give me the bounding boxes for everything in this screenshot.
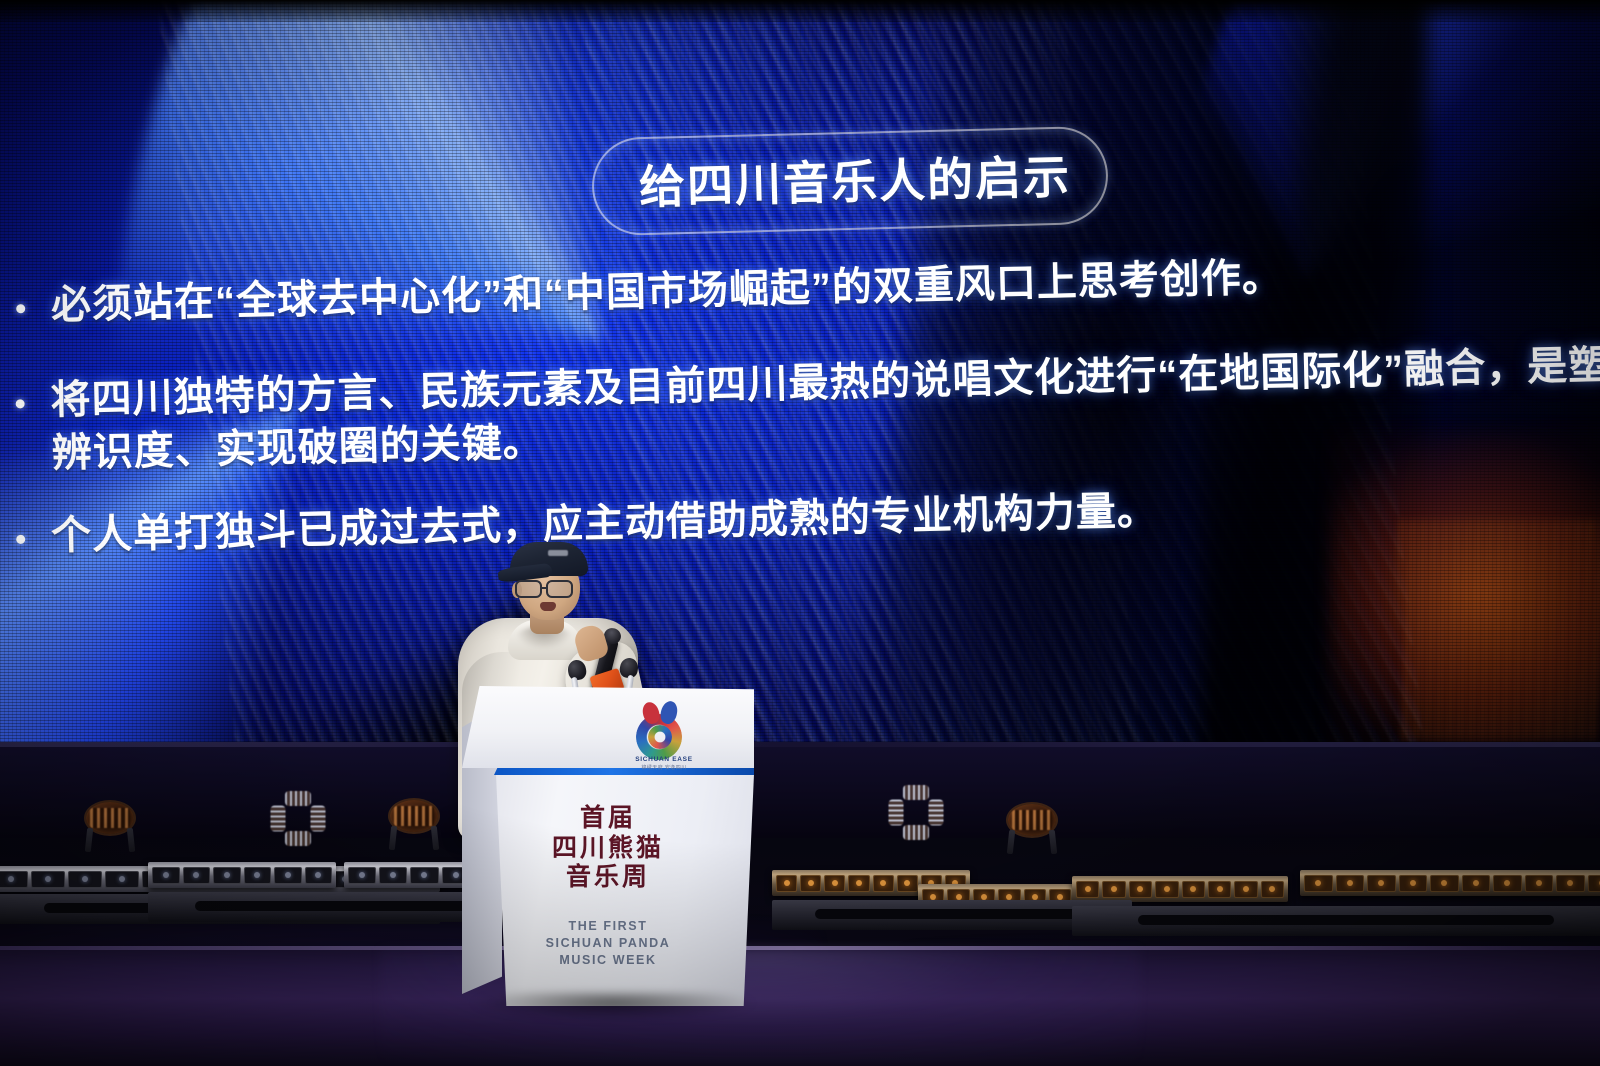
sichuan-ease-logo: SICHUAN EASE 锦绣天府 安逸四川: [628, 698, 700, 762]
led-bar-base: [1072, 906, 1600, 936]
led-cell: [1304, 875, 1333, 892]
podium-subtitle-line: SICHUAN PANDA: [462, 935, 754, 952]
fixture-petal: [311, 806, 326, 832]
fixture-lens: [394, 806, 434, 826]
led-cell: [1261, 881, 1284, 898]
flower-effect-fixture: [880, 776, 952, 848]
led-cell: [183, 867, 211, 884]
bullet-dot-icon: [16, 399, 25, 408]
led-cell: [244, 867, 272, 884]
stage-floor-area: [0, 742, 1600, 1066]
led-cell: [1155, 881, 1178, 898]
fixture-lens: [90, 808, 130, 828]
led-cell: [1556, 875, 1585, 892]
fixture-petal: [285, 791, 311, 806]
led-cell: [1182, 881, 1205, 898]
fixture-petal: [285, 831, 311, 846]
stage-led-bar-amber: [1072, 876, 1288, 902]
led-cell: [1430, 875, 1459, 892]
slide-bullet-item: 将四川独特的方言、民族元素及目前四川最热的说唱文化进行“在地国际化”融合，是塑造…: [15, 337, 1600, 482]
led-cell: [348, 867, 376, 884]
moving-head-fixture: [1000, 802, 1064, 854]
bullet-dot-icon: [16, 535, 25, 544]
logo-wordmark-cn: 锦绣天府 安逸四川: [628, 764, 700, 771]
podium-title-line: 音乐周: [462, 863, 754, 893]
glasses-lens-right: [546, 580, 573, 598]
led-cell: [305, 867, 333, 884]
fixture-yoke: [1049, 830, 1057, 854]
slide-bullet-text: 必须站在“全球去中心化”和“中国市场崛起”的双重风口上思考创作。: [51, 252, 1284, 333]
led-cell: [776, 875, 797, 892]
led-cell: [1493, 875, 1522, 892]
stage-scene: 给四川音乐人的启示 必须站在“全球去中心化”和“中国市场崛起”的双重风口上思考创…: [0, 0, 1600, 1066]
led-cell: [1399, 875, 1428, 892]
fixture-petal: [903, 785, 929, 800]
glasses-lens-left: [515, 580, 542, 598]
podium-title-line: 首届: [462, 804, 754, 834]
led-cell: [274, 867, 302, 884]
led-cell: [1525, 875, 1554, 892]
fixture-petal: [929, 800, 944, 826]
led-cell: [1462, 875, 1491, 892]
podium-subtitle-line: THE FIRST: [462, 918, 754, 935]
podium-subtitle-line: MUSIC WEEK: [462, 952, 754, 969]
stage-led-bar: [148, 862, 336, 888]
stage-truss-backdrop: [0, 742, 1600, 838]
fixture-petal: [903, 825, 929, 840]
speaker-glasses-icon: [514, 580, 582, 598]
moving-head-fixture: [78, 800, 142, 852]
led-cell: [800, 875, 821, 892]
podium-top-panel: [462, 686, 754, 768]
truss-beam: [0, 742, 1600, 747]
led-cell: [213, 867, 241, 884]
led-cell: [68, 871, 102, 888]
podium-event-title-en: THE FIRST SICHUAN PANDA MUSIC WEEK: [462, 918, 754, 969]
led-cell: [410, 867, 438, 884]
led-cell: [1367, 875, 1396, 892]
led-cell: [1234, 881, 1257, 898]
speaker-mouth: [540, 602, 556, 611]
flower-effect-fixture: [262, 782, 334, 854]
led-cell: [824, 875, 845, 892]
led-cell: [1336, 875, 1365, 892]
presentation-slide: 给四川音乐人的启示 必须站在“全球去中心化”和“中国市场崛起”的双重风口上思考创…: [0, 0, 1600, 742]
led-cell: [105, 871, 139, 888]
podium-lectern: SICHUAN EASE 锦绣天府 安逸四川 首届 四川熊猫 音乐周 THE F…: [462, 686, 754, 1020]
led-cell: [31, 871, 65, 888]
podium-floor-shadow: [472, 992, 754, 1020]
bullet-dot-icon: [16, 304, 25, 313]
led-cell: [1076, 881, 1099, 898]
fixture-petal: [271, 806, 286, 832]
stage-led-bar-amber: [1300, 870, 1600, 896]
logo-swirl-core-icon: [648, 725, 672, 749]
led-cell: [1102, 881, 1125, 898]
led-cell: [873, 875, 894, 892]
led-cell: [897, 875, 918, 892]
fixture-lens: [1012, 810, 1052, 830]
slide-title: 给四川音乐人的启示: [594, 140, 1115, 219]
led-cell: [152, 867, 180, 884]
led-cell: [379, 867, 407, 884]
cap-logo-mark: [548, 550, 568, 556]
fixture-petal: [889, 800, 904, 826]
led-cell: [848, 875, 869, 892]
led-cell: [1208, 881, 1231, 898]
led-cell: [1129, 881, 1152, 898]
led-cell: [0, 871, 28, 888]
fixture-yoke: [127, 828, 135, 852]
glasses-bridge: [542, 587, 548, 589]
podium-title-line: 四川熊猫: [462, 834, 754, 864]
podium-event-title-cn: 首届 四川熊猫 音乐周: [462, 804, 754, 893]
slide-bullet-item: 必须站在“全球去中心化”和“中国市场崛起”的双重风口上思考创作。: [16, 252, 1284, 334]
fixture-yoke: [389, 826, 397, 850]
fixture-yoke: [85, 828, 93, 852]
logo-wordmark-en: SICHUAN EASE: [628, 756, 700, 763]
slide-bullet-text: 将四川独特的方言、民族元素及目前四川最热的说唱文化进行“在地国际化”融合，是塑造…: [50, 337, 1600, 481]
fixture-yoke: [1007, 830, 1015, 854]
led-cell: [1588, 875, 1600, 892]
